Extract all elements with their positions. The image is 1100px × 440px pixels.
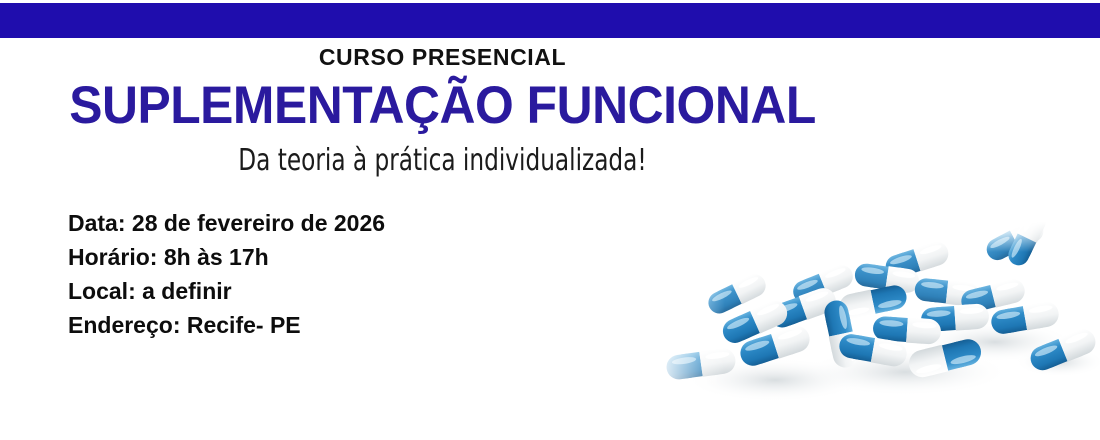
course-flyer: CURSO PRESENCIAL SUPLEMENTAÇÃO FUNCIONAL… <box>0 0 1100 440</box>
detail-date: Data: 28 de fevereiro de 2026 <box>68 206 385 240</box>
top-accent-bar <box>0 3 1100 38</box>
capsules-photo <box>655 222 1100 440</box>
page-title: SUPLEMENTAÇÃO FUNCIONAL <box>27 79 859 133</box>
page-subtitle: Da teoria à prática individualizada! <box>62 145 823 177</box>
detail-address: Endereço: Recife- PE <box>68 308 385 342</box>
detail-time: Horário: 8h às 17h <box>68 240 385 274</box>
capsules-illustration <box>655 222 1100 440</box>
course-kicker: CURSO PRESENCIAL <box>0 46 885 69</box>
headline-block: CURSO PRESENCIAL SUPLEMENTAÇÃO FUNCIONAL… <box>0 46 885 177</box>
event-details-list: Data: 28 de fevereiro de 2026 Horário: 8… <box>68 206 385 342</box>
detail-venue: Local: a definir <box>68 274 385 308</box>
